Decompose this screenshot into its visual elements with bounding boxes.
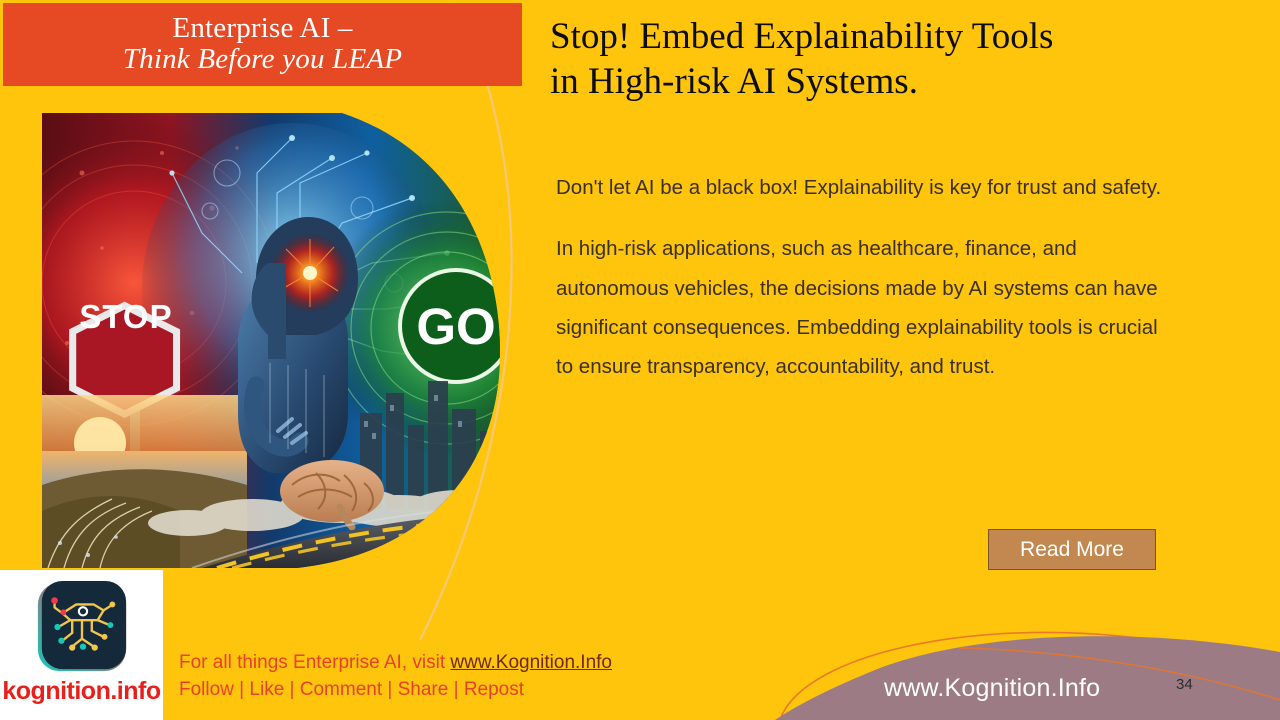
footer-website-link[interactable]: www.Kognition.Info [450,652,612,673]
page-title-line2: in High-risk AI Systems. [550,59,1190,104]
svg-text:GO: GO [416,298,495,355]
hero-illustration: GO STOP [42,113,500,568]
body-paragraph-2: In high-risk applications, such as healt… [556,229,1176,386]
page-title: Stop! Embed Explainability Tools in High… [550,14,1190,104]
slide-canvas: Enterprise AI – Think Before you LEAP [0,0,1280,720]
body-copy: Don't let AI be a black box! Explainabil… [556,168,1176,387]
footer-separator-1: | [234,679,250,700]
logo-wordmark: kognition.info [0,677,163,706]
footer-visit-prefix: For all things Enterprise AI, visit [179,652,450,673]
banner-title-line2: Think Before you LEAP [123,43,402,75]
footer-social-follow[interactable]: Follow [179,679,234,700]
footer-separator-2: | [284,679,300,700]
footer-text: For all things Enterprise AI, visit www.… [179,650,719,704]
banner-title-line1: Enterprise AI – [172,13,352,43]
page-title-line1: Stop! Embed Explainability Tools [550,14,1190,59]
footer-social-comment[interactable]: Comment [300,679,382,700]
footer-social-like[interactable]: Like [249,679,284,700]
footer-line-visit: For all things Enterprise AI, visit www.… [179,650,719,677]
brand-logo-card: kognition.info [0,570,163,720]
hero-image: GO STOP [42,113,500,568]
footer-social-repost[interactable]: Repost [464,679,524,700]
header-banner: Enterprise AI – Think Before you LEAP [3,3,522,86]
footer-social-line: Follow | Like | Comment | Share | Repost [179,677,719,704]
body-paragraph-1: Don't let AI be a black box! Explainabil… [556,168,1176,207]
page-number: 34 [1176,676,1193,693]
footer-separator-3: | [382,679,398,700]
footer-social-share[interactable]: Share [398,679,449,700]
read-more-button[interactable]: Read More [988,529,1156,570]
footer-separator-4: | [448,679,464,700]
circuit-head-icon [33,578,131,676]
svg-text:STOP: STOP [79,298,172,335]
corner-website-url: www.Kognition.Info [884,674,1100,703]
